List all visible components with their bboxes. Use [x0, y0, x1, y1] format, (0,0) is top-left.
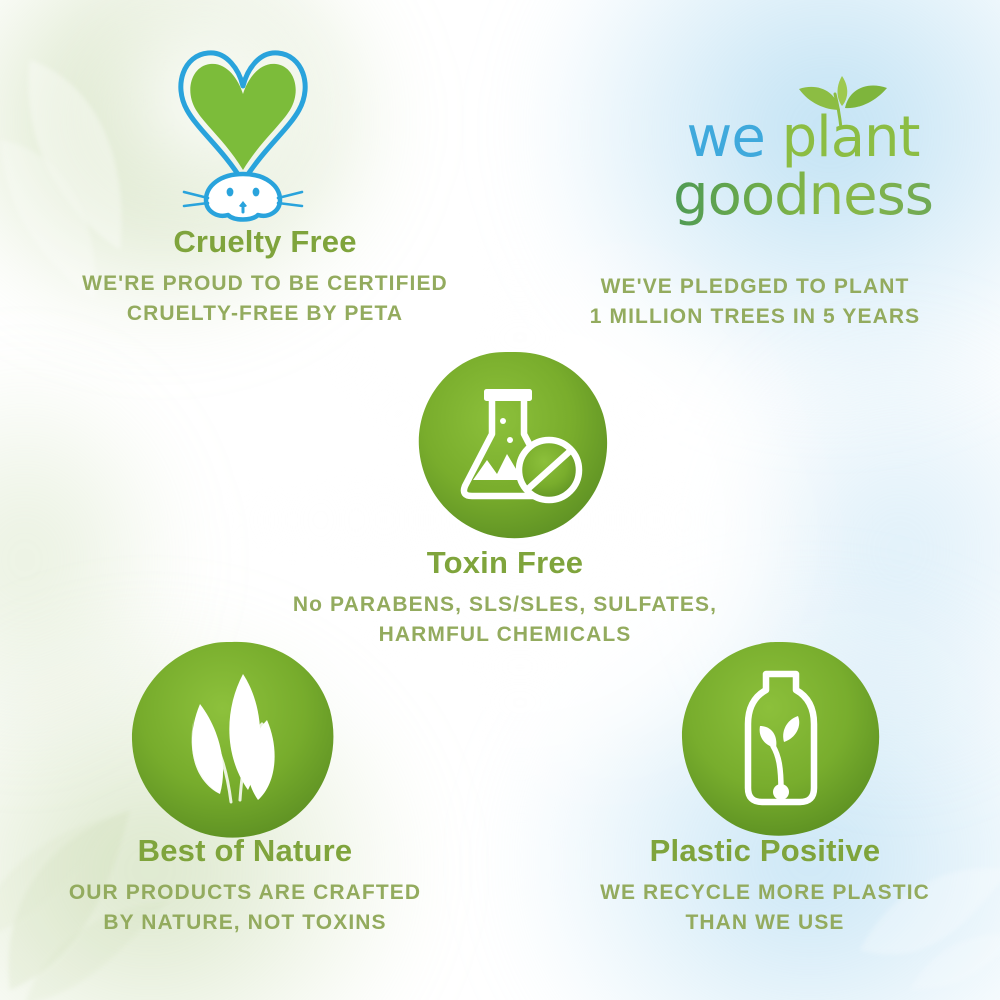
badge-subtitle-line: BY NATURE, NOT TOXINS — [20, 908, 470, 938]
badge-subtitle-line: WE RECYCLE MORE PLASTIC — [540, 878, 990, 908]
leaf-sprout-icon — [795, 76, 891, 128]
badge-subtitle-best-of-nature: OUR PRODUCTS ARE CRAFTED BY NATURE, NOT … — [20, 878, 470, 938]
badge-subtitle-line: 1 MILLION TREES IN 5 YEARS — [520, 302, 990, 332]
badge-subtitle-line: No PARABENS, SLS/SLES, SULFATES, — [260, 590, 750, 620]
badge-title-toxin-free: Toxin Free — [260, 546, 750, 580]
we-plant-goodness-logo: we plant goodness — [648, 110, 958, 260]
badge-title-cruelty-free: Cruelty Free — [20, 225, 510, 259]
bottle-sprout-icon — [678, 638, 884, 844]
logo-word-goodness: goodness — [673, 163, 933, 228]
logo-word-we: we — [687, 105, 782, 170]
badge-cruelty-free: Cruelty Free WE'RE PROUD TO BE CERTIFIED… — [20, 225, 510, 329]
badge-subtitle-line: OUR PRODUCTS ARE CRAFTED — [20, 878, 470, 908]
no-chemicals-flask-icon — [415, 348, 611, 544]
peta-bunny-icon — [148, 22, 338, 222]
badge-plastic-positive: Plastic Positive WE RECYCLE MORE PLASTIC… — [540, 834, 990, 938]
badge-title-best-of-nature: Best of Nature — [20, 834, 470, 868]
badge-toxin-free: Toxin Free No PARABENS, SLS/SLES, SULFAT… — [260, 546, 750, 650]
brand-values-infographic: Cruelty Free WE'RE PROUD TO BE CERTIFIED… — [0, 0, 1000, 1000]
badge-subtitle-cruelty-free: WE'RE PROUD TO BE CERTIFIED CRUELTY-FREE… — [20, 269, 510, 329]
badge-subtitle-line: WE'RE PROUD TO BE CERTIFIED — [20, 269, 510, 299]
badge-subtitle-line: THAN WE USE — [540, 908, 990, 938]
badge-subtitle-we-plant-goodness: WE'VE PLEDGED TO PLANT 1 MILLION TREES I… — [520, 272, 990, 332]
three-leaves-icon — [128, 638, 338, 846]
badge-subtitle-line: WE'VE PLEDGED TO PLANT — [520, 272, 990, 302]
badge-best-of-nature: Best of Nature OUR PRODUCTS ARE CRAFTED … — [20, 834, 470, 938]
badge-subtitle-line: CRUELTY-FREE BY PETA — [20, 299, 510, 329]
badge-subtitle-plastic-positive: WE RECYCLE MORE PLASTIC THAN WE USE — [540, 878, 990, 938]
badge-title-plastic-positive: Plastic Positive — [540, 834, 990, 868]
badge-we-plant-goodness: WE'VE PLEDGED TO PLANT 1 MILLION TREES I… — [520, 272, 990, 332]
